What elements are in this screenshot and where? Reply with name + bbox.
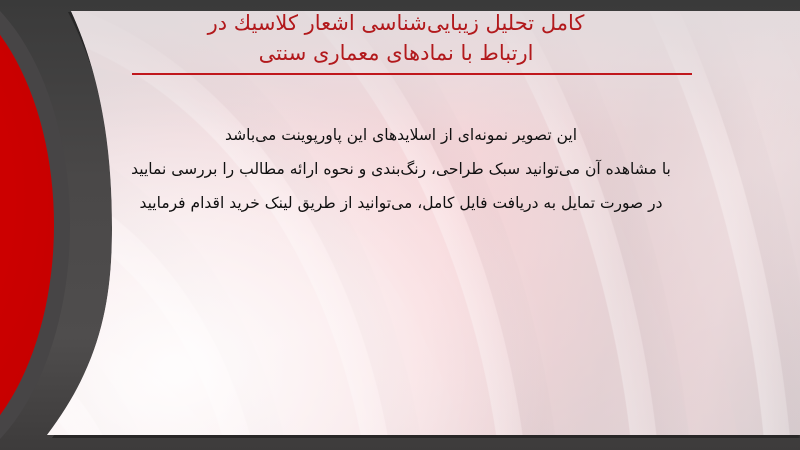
body-line: این تصویر نمونه‌ای از اسلایدهای این پاور… <box>32 118 770 152</box>
body-line: با مشاهده آن می‌توانید سبک طراحی، رنگ‌بن… <box>32 152 770 186</box>
title-underline-rule <box>132 73 692 75</box>
slide-title: کامل تحلیل زیبایی‌شناسی اشعار کلاسیك در … <box>96 8 696 68</box>
slide-body-block: این تصویر نمونه‌ای از اسلایدهای این پاور… <box>32 118 770 220</box>
body-line: در صورت تمایل به دریافت فایل کامل، می‌تو… <box>32 186 770 220</box>
slide-title-block: کامل تحلیل زیبایی‌شناسی اشعار کلاسیك در … <box>96 8 696 75</box>
slide-content: کامل تحلیل زیبایی‌شناسی اشعار کلاسیك در … <box>0 0 800 450</box>
presentation-slide: کامل تحلیل زیبایی‌شناسی اشعار کلاسیك در … <box>0 0 800 450</box>
